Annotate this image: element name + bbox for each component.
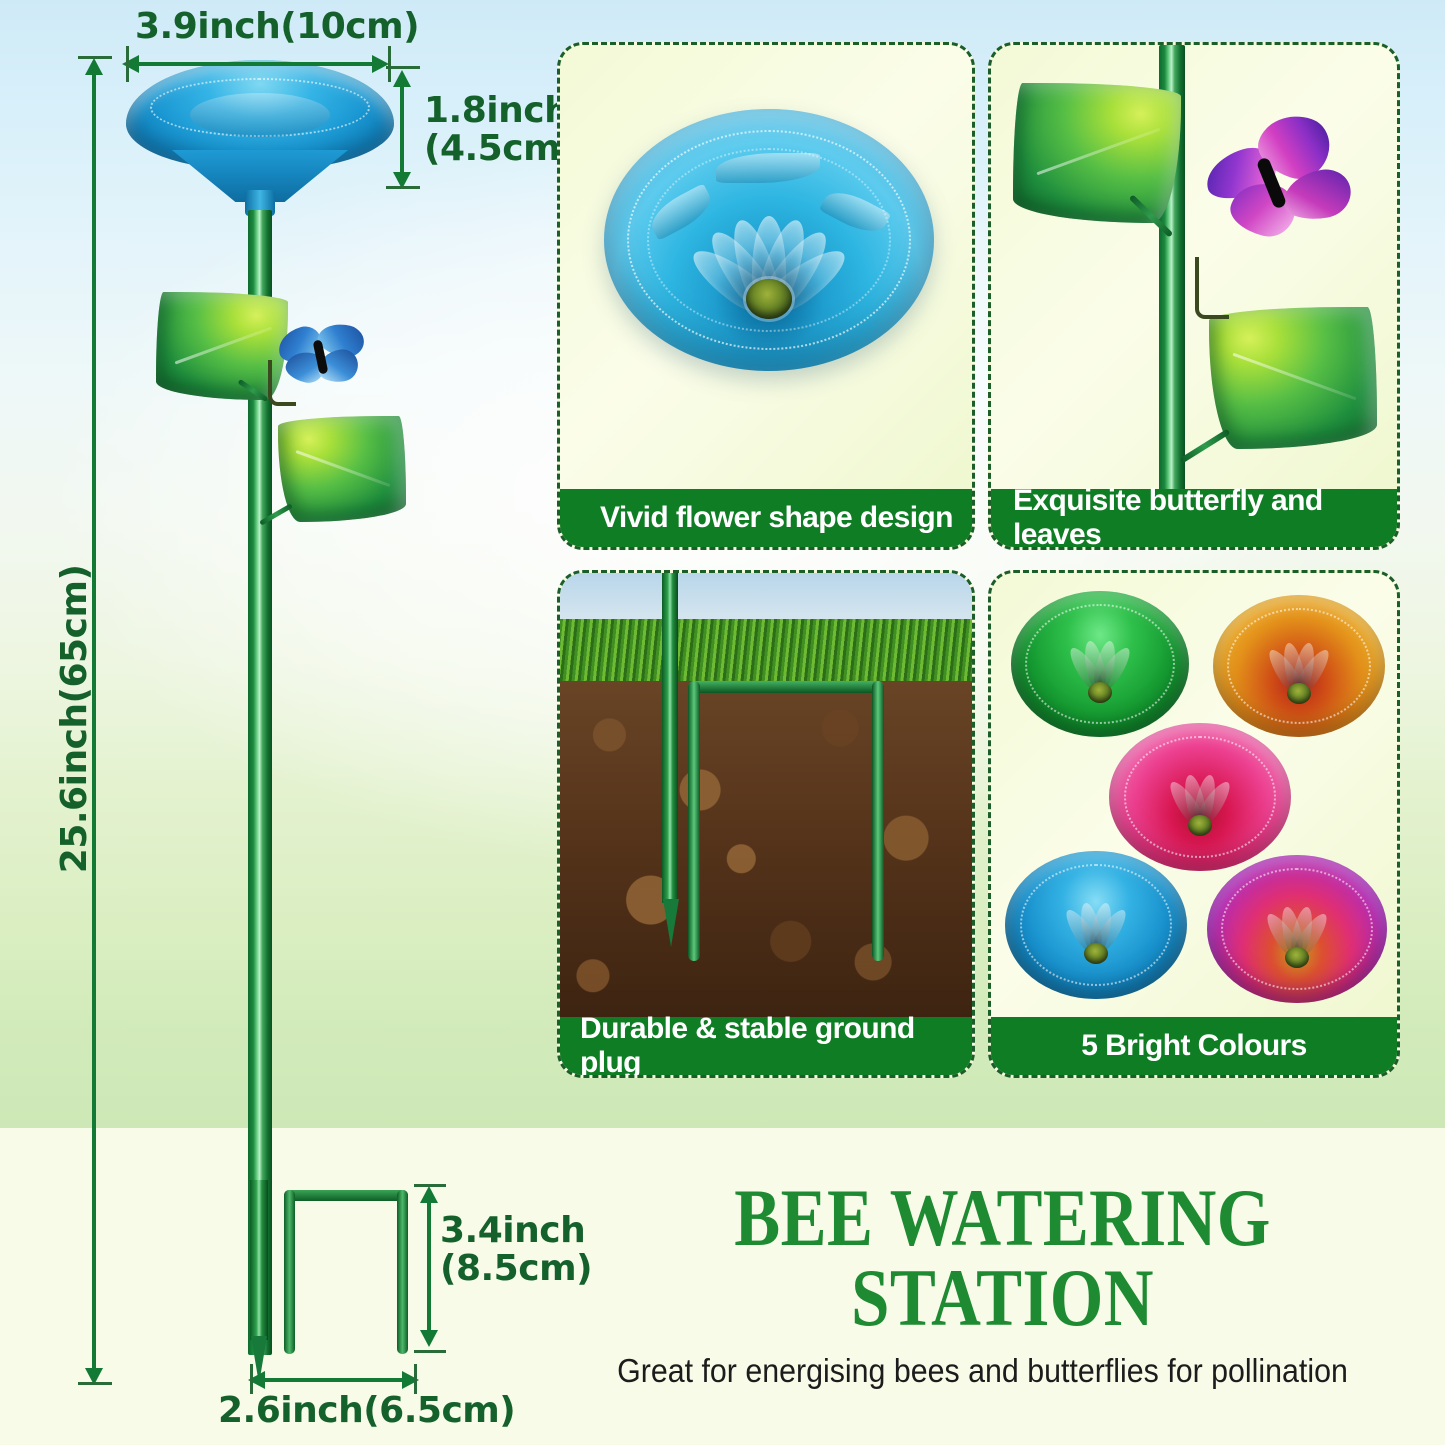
bowl-drain-center [1084,943,1108,964]
colour-swatch-orange [1213,595,1385,737]
feature-card-five-colours[interactable]: 5 Bright Colours [988,570,1400,1078]
feature-card-vivid-flower[interactable]: Vivid flower shape design [557,42,975,550]
leaf-lower-stem [1180,429,1231,464]
dimension-tick [414,1184,446,1187]
colour-swatch-blue [1005,851,1187,999]
feature-card-image [991,45,1397,489]
dimension-line-total-height [92,70,96,1380]
butterfly-blue [276,322,366,392]
bowl-drain-center [1285,947,1309,968]
dimension-label-plug-width: 2.6inch(6.5cm) [218,1392,515,1430]
dimension-label-bowl-width: 3.9inch(10cm) [135,8,419,46]
bowl-emboss-pattern [190,93,329,137]
leaf-vein [296,450,391,487]
plug-spike-tip [663,899,679,947]
bowl-drain-center [746,279,792,319]
feature-card-image [560,45,972,489]
plug-bracket-right-leg [397,1190,408,1354]
leaf-vein [1233,353,1357,401]
feature-card-ground-plug[interactable]: Durable & stable ground plug [557,570,975,1078]
feature-card-label: 5 Bright Colours [991,1017,1397,1075]
colour-swatch-green [1011,591,1189,737]
colour-swatch-purple [1207,855,1387,1003]
bowl-drain-center [1088,682,1112,703]
dimension-tick [386,66,420,69]
arrowhead-right-icon [372,55,389,73]
arrowhead-down-icon [420,1330,438,1347]
embossed-flower-bowl [604,109,934,371]
plug-bracket-right-leg [872,681,884,961]
dimension-line-plug-width [254,1378,414,1382]
feature-card-image [560,573,972,1017]
dimension-tick [78,56,112,59]
leaf-lower [1209,307,1377,449]
dimension-tick [414,1364,417,1394]
dimension-tick [388,46,391,82]
headline-line-2: STATION [851,1252,1154,1343]
dimension-tick [414,1350,446,1353]
headline-line-1: BEE WATERING [734,1172,1270,1263]
dimension-tick [78,1382,112,1385]
butterfly-wire [1195,257,1229,319]
feature-card-label: Durable & stable ground plug [560,1017,972,1075]
dimension-label-plug-height: 3.4inch (8.5cm) [440,1212,592,1288]
plug-spike [662,573,678,903]
dimension-tick [386,186,420,189]
grass-layer [560,619,972,681]
plug-spike [250,1180,268,1340]
arrowhead-up-icon [393,70,411,87]
bowl-drain-center [1188,815,1212,836]
dimension-line-bowl-height [400,80,404,184]
arrowhead-left-icon [122,55,139,73]
feature-card-image [991,573,1397,1017]
plug-bracket-top [688,681,884,693]
leaf-upper [1013,83,1181,223]
butterfly-purple [1203,109,1353,259]
dimension-line-bowl-width [128,62,384,66]
plug-bracket-left-leg [284,1190,295,1354]
product-tagline: Great for energising bees and butterflie… [557,1352,1408,1390]
colour-swatch-pink [1109,723,1291,871]
soil-cross-section [560,673,972,1017]
leaf-vein [174,326,272,364]
dimension-line-plug-height [427,1196,431,1342]
arrowhead-up-icon [420,1186,438,1203]
feature-card-label: Exquisite butterfly and leaves [991,489,1397,547]
product-headline: BEE WATERING STATION [631,1178,1374,1339]
bowl-drain-center [1287,683,1311,704]
dimension-label-bowl-height: 1.8inch (4.5cm) [424,92,576,168]
plug-bracket-left-leg [688,681,700,961]
leaf-vein [1037,128,1161,176]
dimension-tick [250,1364,253,1394]
arrowhead-up-icon [85,58,103,75]
dimension-tick [126,46,129,82]
feature-card-label: Vivid flower shape design [560,489,972,547]
feature-card-butterfly-leaves[interactable]: Exquisite butterfly and leaves [988,42,1400,550]
stake-leaf-lower [278,416,406,522]
dimension-label-total-height: 25.6inch(65cm) [56,554,94,884]
plug-bracket-top [284,1190,408,1201]
